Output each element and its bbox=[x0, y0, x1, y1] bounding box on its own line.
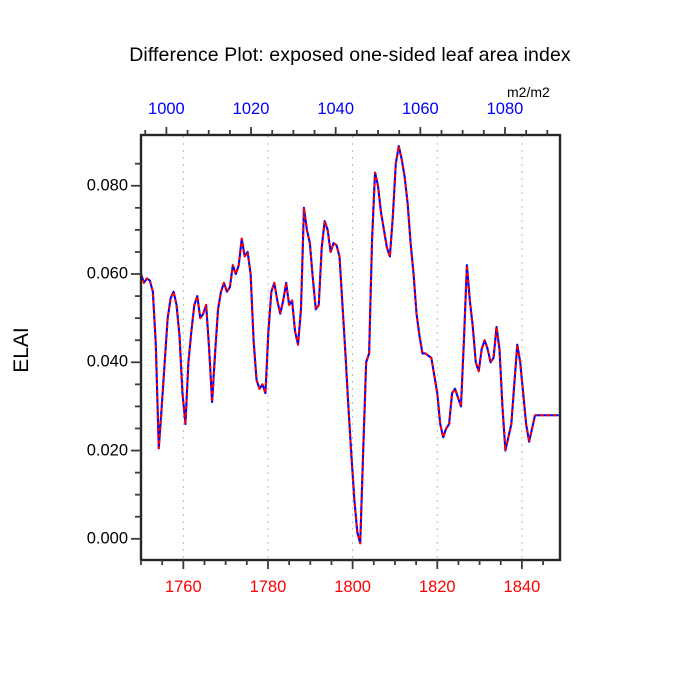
bottom-axis-tick-label: 1780 bbox=[250, 578, 287, 597]
plot-frame bbox=[141, 135, 560, 560]
chart-figure: Difference Plot: exposed one-sided leaf … bbox=[0, 0, 700, 700]
top-axis-tick-label: 1000 bbox=[148, 100, 185, 119]
data-series-2-line bbox=[141, 146, 559, 543]
bottom-axis-tick-label: 1800 bbox=[334, 578, 371, 597]
y-axis-tick-label: 0.040 bbox=[87, 353, 128, 372]
y-axis-tick-label: 0.020 bbox=[87, 441, 128, 460]
top-axis-tick-label: 1020 bbox=[233, 100, 270, 119]
bottom-axis-tick-label: 1820 bbox=[419, 578, 456, 597]
y-axis-tick-label: 0.000 bbox=[87, 529, 128, 548]
bottom-axis-tick-label: 1760 bbox=[165, 578, 202, 597]
top-axis-tick-label: 1040 bbox=[317, 100, 354, 119]
y-axis-tick-label: 0.060 bbox=[87, 265, 128, 284]
top-axis-tick-label: 1060 bbox=[402, 100, 439, 119]
top-axis-tick-label: 1080 bbox=[487, 100, 524, 119]
bottom-axis-tick-label: 1840 bbox=[504, 578, 541, 597]
y-axis-tick-label: 0.080 bbox=[87, 176, 128, 195]
data-series-1-line bbox=[141, 146, 559, 543]
